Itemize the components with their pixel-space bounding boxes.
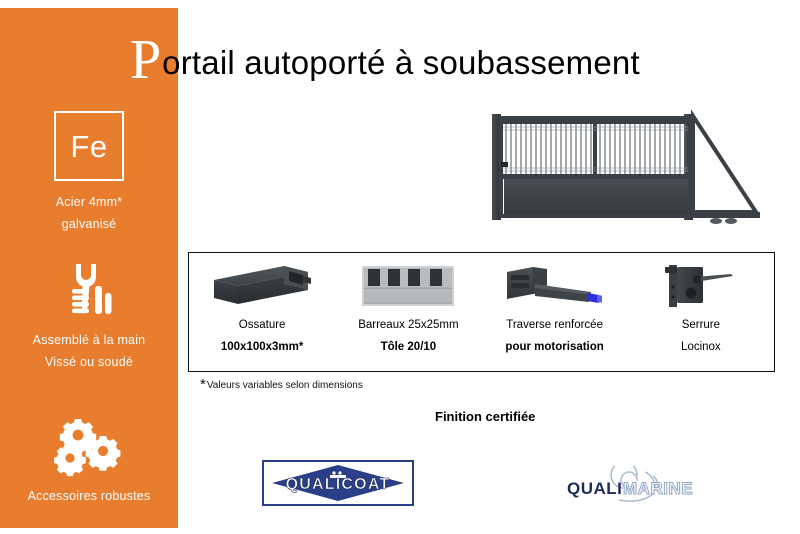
feature-label-line1: Acier 4mm* xyxy=(0,191,178,213)
hand-wrench-icon xyxy=(0,261,178,323)
page-title: P ortail autoporté à soubassement xyxy=(130,28,640,88)
certification-heading: Finition certifiée xyxy=(435,409,535,424)
frame-profile-icon xyxy=(210,262,314,310)
motor-rail-icon xyxy=(501,262,609,310)
lock-icon xyxy=(655,262,747,310)
component-subtitle: Tôle 20/10 xyxy=(381,338,437,356)
component-subtitle: Locinox xyxy=(681,338,721,356)
footnote-text: Valeurs variables selon dimensions xyxy=(207,380,363,391)
svg-text:QUALI: QUALI xyxy=(567,479,622,498)
feature-item-steel: Fe Acier 4mm* galvanisé xyxy=(0,111,178,235)
feature-label-line2: Vissé ou soudé xyxy=(0,351,178,373)
sliding-gate-illustration xyxy=(488,108,764,226)
component-item-ossature: Ossature 100x100x3mm* xyxy=(189,253,335,371)
feature-label-line1: Accessoires robustes xyxy=(0,485,178,507)
footnote: *Valeurs variables selon dimensions xyxy=(200,379,363,392)
gears-icon xyxy=(0,417,178,479)
component-subtitle: 100x100x3mm* xyxy=(221,338,304,356)
svg-text:MARINE: MARINE xyxy=(623,479,693,498)
component-item-serrure: Serrure Locinox xyxy=(628,253,774,371)
component-title: Serrure xyxy=(682,316,720,334)
bars-panel-icon xyxy=(362,262,454,310)
footnote-star: * xyxy=(200,376,206,393)
svg-text:QUALICOAT: QUALICOAT xyxy=(286,476,391,493)
fe-element-icon: Fe xyxy=(54,111,124,181)
feature-label-line1: Assemblé à la main xyxy=(0,329,178,351)
feature-item-accessories: Accessoires robustes xyxy=(0,417,178,507)
component-title: Ossature xyxy=(239,316,286,334)
feature-item-assembly: Assemblé à la main Vissé ou soudé xyxy=(0,261,178,373)
component-title: Barreaux 25x25mm xyxy=(358,316,458,334)
qualimarine-logo: QUALI MARINE xyxy=(557,466,717,506)
component-item-traverse: Traverse renforcée pour motorisation xyxy=(482,253,628,371)
components-panel: Ossature 100x100x3mm* Barreaux 25x25mm T… xyxy=(188,252,775,372)
fe-badge-label: Fe xyxy=(70,131,107,162)
component-subtitle: pour motorisation xyxy=(505,338,603,356)
page-title-text: ortail autoporté à soubassement xyxy=(162,46,640,79)
qualicoat-logo: QUALICOAT xyxy=(262,460,414,506)
page-title-dropcap: P xyxy=(130,32,161,88)
component-title: Traverse renforcée xyxy=(506,316,603,334)
feature-label-line2: galvanisé xyxy=(0,213,178,235)
component-item-barreaux: Barreaux 25x25mm Tôle 20/10 xyxy=(335,253,481,371)
